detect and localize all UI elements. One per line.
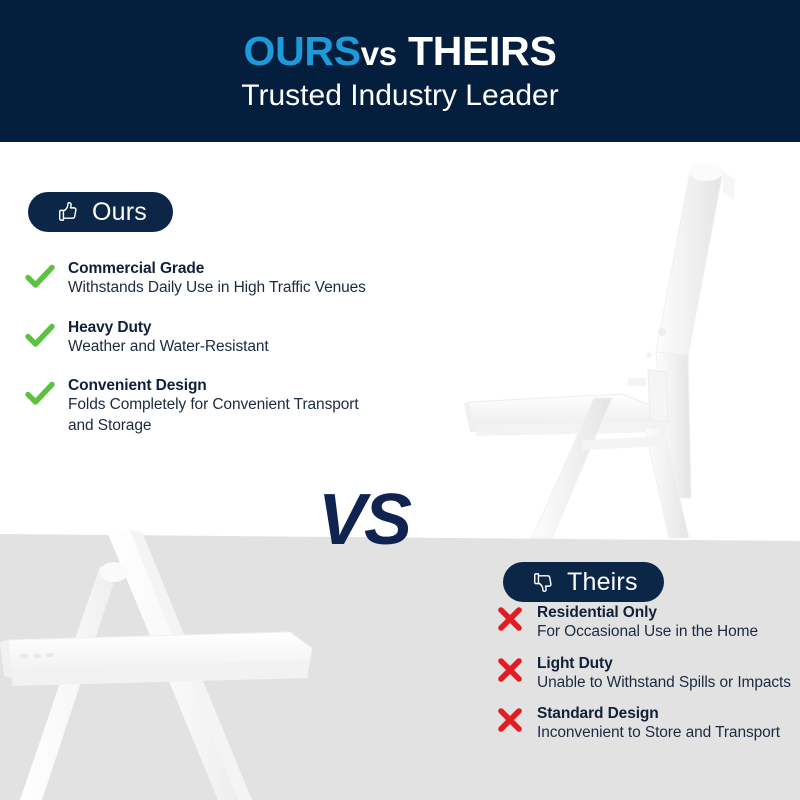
list-item: Standard Design Inconvenient to Store an… — [495, 703, 795, 744]
list-item-title: Light Duty — [537, 654, 791, 673]
check-icon — [24, 317, 56, 355]
list-item: Heavy Duty Weather and Water-Resistant — [24, 317, 384, 358]
theirs-feature-list: Residential Only For Occasional Use in t… — [495, 602, 795, 754]
list-item: Residential Only For Occasional Use in t… — [495, 602, 795, 643]
theirs-badge: Theirs — [503, 562, 664, 602]
list-item-desc: Inconvenient to Store and Transport — [537, 723, 780, 743]
versus-label: VS — [318, 484, 410, 556]
list-item-title: Commercial Grade — [68, 259, 366, 278]
page-title: OURSvs THEIRS — [243, 30, 556, 73]
header-banner: OURSvs THEIRS Trusted Industry Leader — [0, 0, 800, 142]
title-theirs: THEIRS — [408, 28, 557, 74]
ours-badge: Ours — [28, 192, 173, 232]
cross-icon — [495, 602, 525, 636]
theirs-badge-label: Theirs — [567, 570, 638, 595]
cross-icon — [495, 653, 525, 687]
list-item: Light Duty Unable to Withstand Spills or… — [495, 653, 795, 694]
list-item-desc: For Occasional Use in the Home — [537, 622, 758, 642]
ours-badge-label: Ours — [92, 200, 147, 225]
list-item: Commercial Grade Withstands Daily Use in… — [24, 258, 384, 299]
title-ours: OURS — [243, 28, 360, 74]
list-item-desc: Weather and Water-Resistant — [68, 337, 269, 357]
comparison-infographic: OURSvs THEIRS Trusted Industry Leader Ou… — [0, 0, 800, 800]
list-item-desc: Folds Completely for Convenient Transpor… — [68, 395, 384, 435]
page-subtitle: Trusted Industry Leader — [241, 79, 558, 112]
list-item-desc: Withstands Daily Use in High Traffic Ven… — [68, 278, 366, 298]
title-vs: vs — [361, 35, 397, 72]
ours-feature-list: Commercial Grade Withstands Daily Use in… — [24, 258, 384, 454]
check-icon — [24, 375, 56, 413]
thumbs-down-icon — [529, 569, 555, 595]
list-item-title: Residential Only — [537, 603, 758, 622]
list-item: Convenient Design Folds Completely for C… — [24, 375, 384, 436]
cross-icon — [495, 703, 525, 737]
thumbs-up-icon — [54, 199, 80, 225]
list-item-title: Standard Design — [537, 704, 780, 723]
list-item-title: Convenient Design — [68, 376, 384, 395]
list-item-desc: Unable to Withstand Spills or Impacts — [537, 673, 791, 693]
check-icon — [24, 258, 56, 296]
list-item-title: Heavy Duty — [68, 318, 269, 337]
